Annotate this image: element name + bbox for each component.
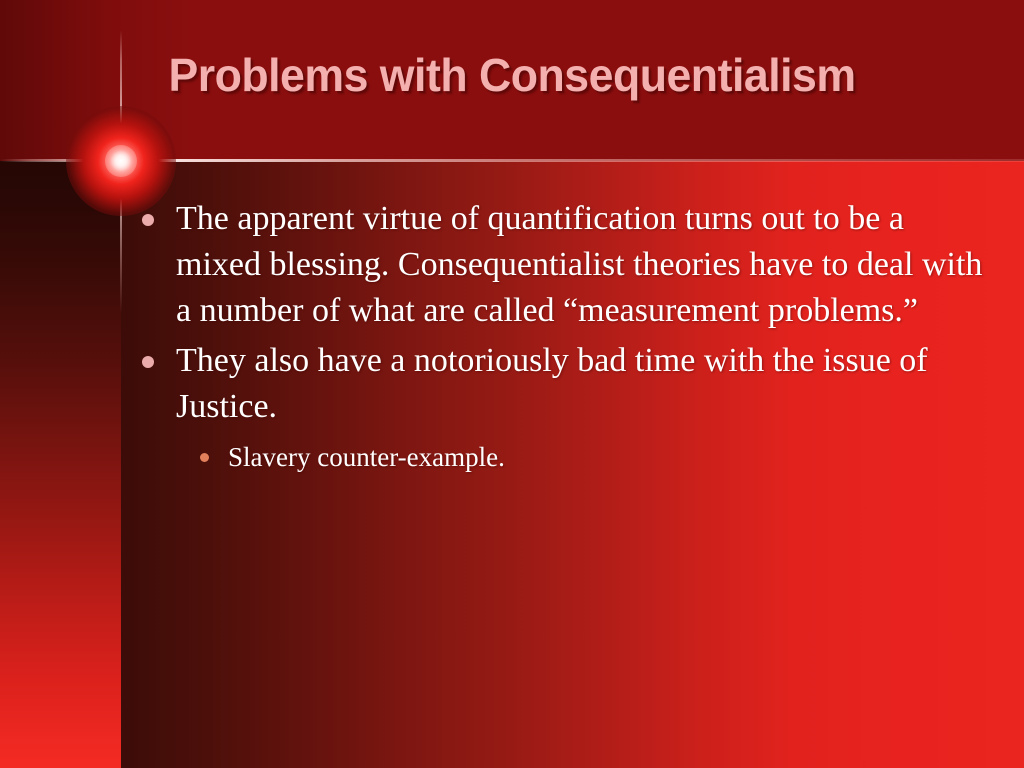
bullet-text: They also have a notoriously bad time wi… bbox=[176, 338, 994, 430]
bullet-item-level1: They also have a notoriously bad time wi… bbox=[140, 338, 1010, 430]
slide-title: Problems with Consequentialism bbox=[15, 48, 1008, 102]
slide: Problems with Consequentialism The appar… bbox=[0, 0, 1024, 768]
sub-bullet-dot-icon bbox=[200, 453, 209, 462]
background-left-band bbox=[0, 161, 121, 768]
slide-body: The apparent virtue of quantification tu… bbox=[140, 196, 1010, 476]
starburst-core bbox=[105, 145, 137, 177]
bullet-item-level2: Slavery counter-example. bbox=[198, 438, 1010, 476]
bullet-dot-icon bbox=[142, 214, 154, 226]
bullet-item-level1: The apparent virtue of quantification tu… bbox=[140, 196, 1010, 334]
sub-bullet-text: Slavery counter-example. bbox=[228, 438, 1010, 476]
bullet-text: The apparent virtue of quantification tu… bbox=[176, 196, 994, 334]
bullet-dot-icon bbox=[142, 356, 154, 368]
